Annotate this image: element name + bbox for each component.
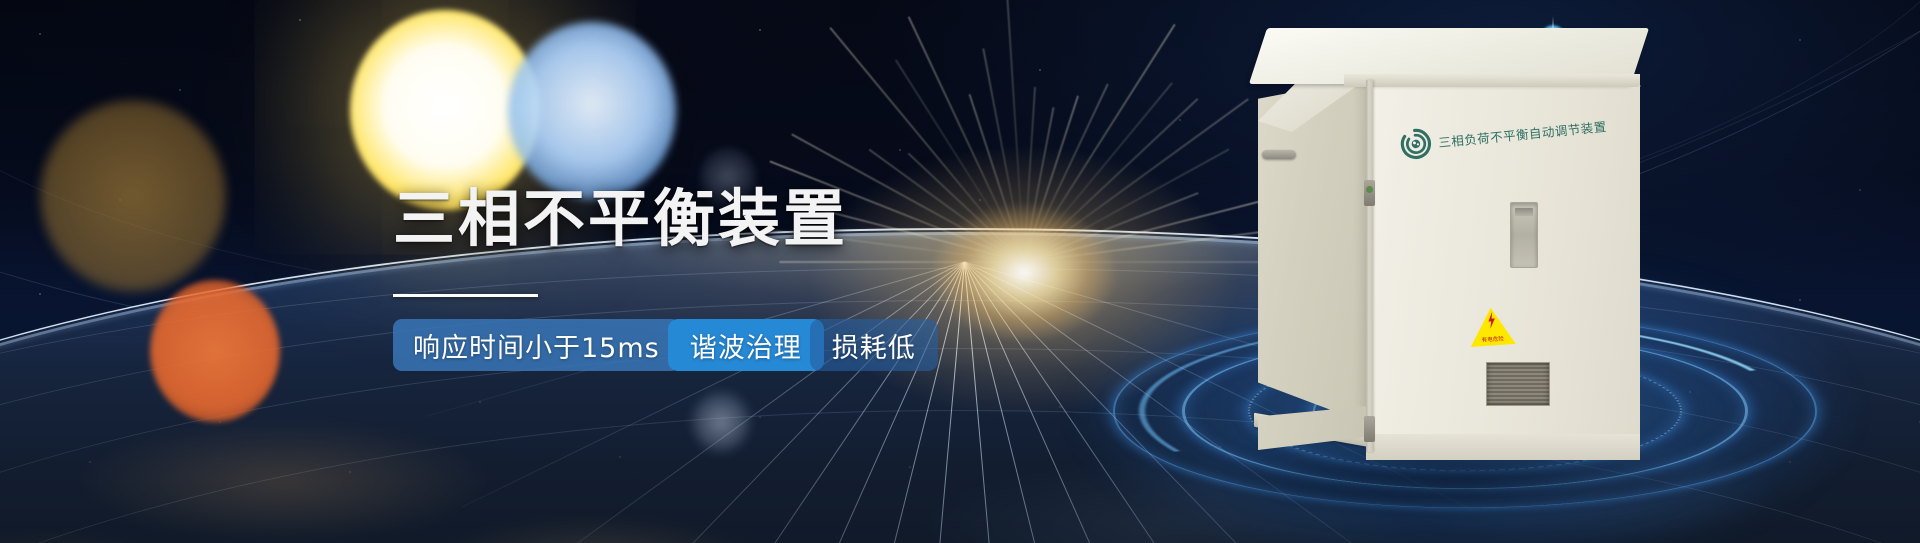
warning-sticker: 有电危险 [1467, 304, 1518, 349]
ventilation-louver [1486, 362, 1550, 406]
cabinet-body: 三相负荷不平衡自动调节装置 有电危险 [1280, 26, 1640, 506]
door-seam [1366, 80, 1373, 452]
cabinet-plinth [1366, 434, 1640, 460]
feature-tag-low-loss: 损耗低 [810, 319, 938, 371]
warning-label: 有电危险 [1481, 334, 1504, 344]
feature-tag-response-time: 响应时间小于15ms [393, 319, 680, 371]
feature-tag-harmonic: 谐波治理 [668, 319, 824, 371]
cabinet-roof-edge [1344, 74, 1640, 87]
door-hinge [1364, 180, 1375, 206]
warning-triangle-icon [1467, 304, 1518, 349]
company-logo-icon [1399, 127, 1433, 161]
feature-tag-list: 响应时间小于15ms 谐波治理 损耗低 [393, 319, 1153, 371]
door-handle [1510, 202, 1538, 268]
hero-banner: 三相负荷不平衡自动调节装置 有电危险 三相不平衡装置 响应时间小于15ms 谐波… [0, 0, 1920, 543]
title-divider [393, 294, 538, 297]
door-hinge [1364, 416, 1375, 442]
page-title: 三相不平衡装置 [393, 188, 1153, 250]
hero-copy: 三相不平衡装置 响应时间小于15ms 谐波治理 损耗低 [393, 188, 1153, 371]
cabinet-side-panel [1258, 78, 1368, 424]
hinge-indicator [1366, 186, 1373, 193]
side-handle-icon [1262, 150, 1296, 159]
product-image: 三相负荷不平衡自动调节装置 有电危险 [1280, 26, 1640, 506]
